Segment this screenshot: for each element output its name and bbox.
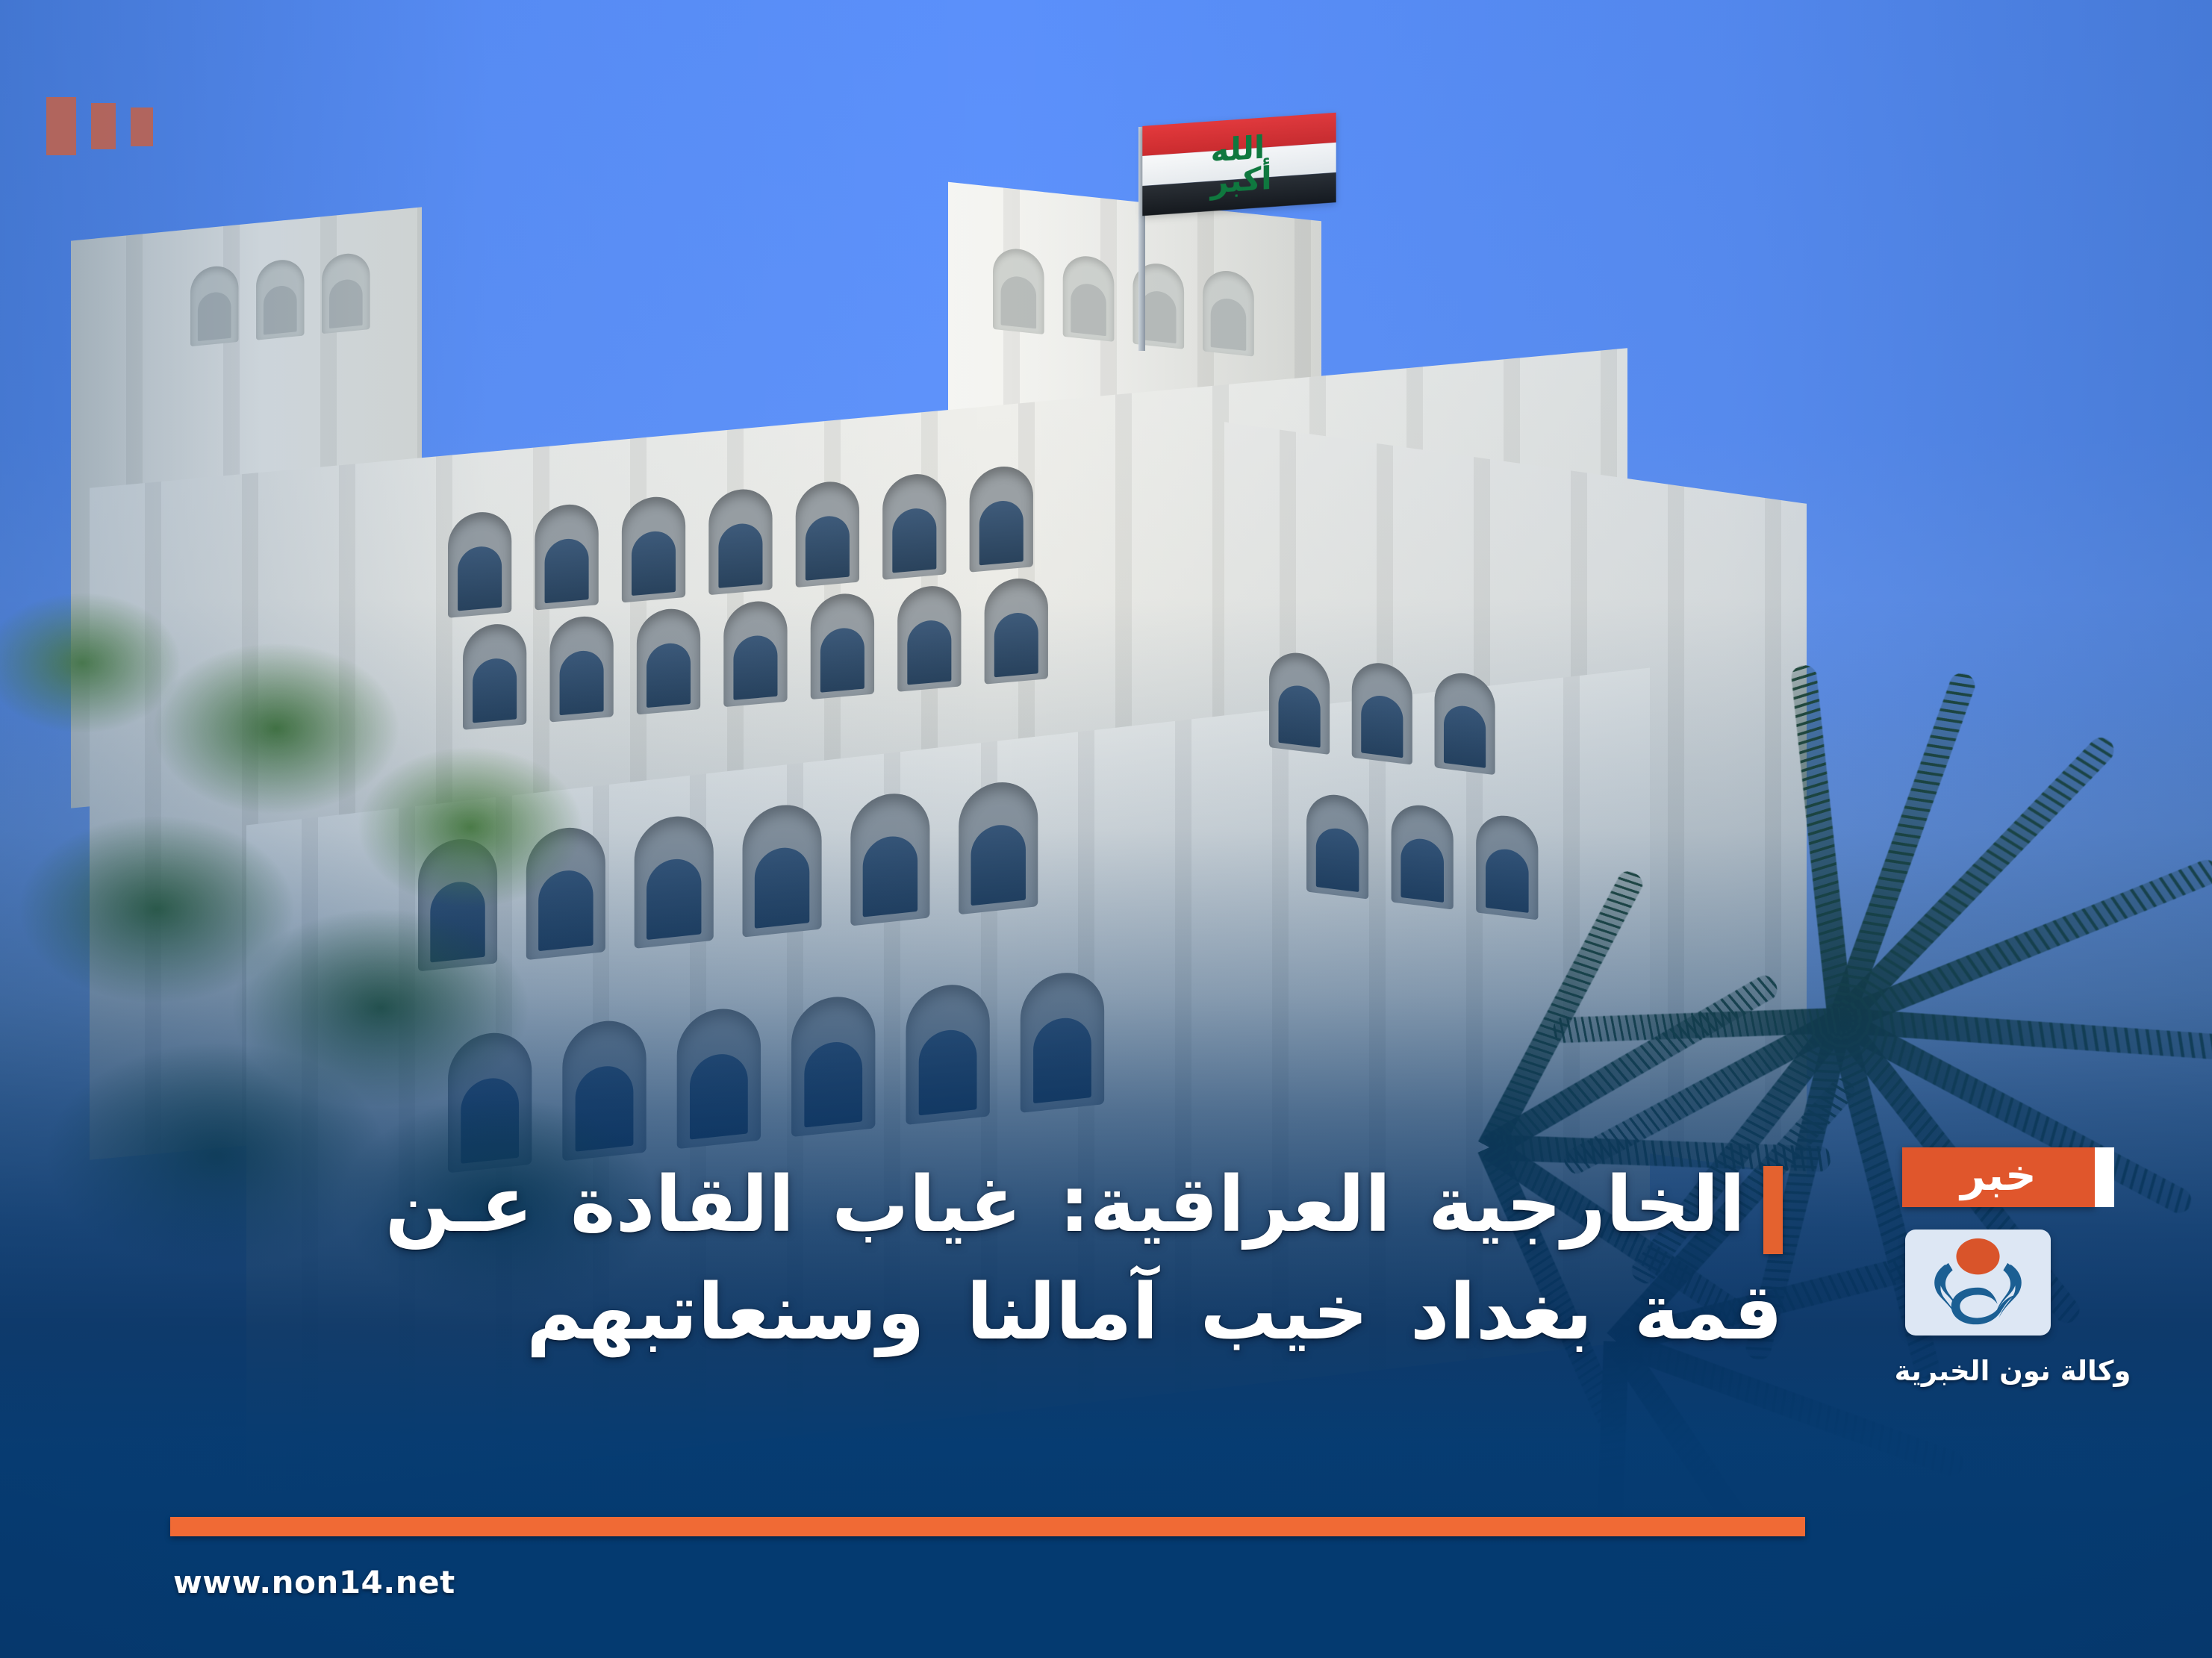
noon-agency-logo-icon[interactable]	[1905, 1230, 2051, 1336]
logo-block: خبر وكالة نون الخبرية	[1889, 1147, 2158, 1387]
headline-line-2: قمة بغداد خيب آمالنا وسنعاتبهم	[142, 1263, 1783, 1363]
headline-accent-bar-icon	[1763, 1166, 1783, 1254]
headline: الخارجية العراقية: غياب القادة عـن قمة ب…	[142, 1156, 1783, 1363]
background-photo: الله أكبر	[0, 0, 2212, 1658]
website-url[interactable]: www.non14.net	[173, 1564, 455, 1601]
vignette-overlay	[0, 0, 2212, 1658]
three-bars-watermark-icon	[46, 97, 153, 155]
news-badge: خبر	[1902, 1147, 2095, 1207]
news-card: الله أكبر	[0, 0, 2212, 1658]
headline-line-1: الخارجية العراقية: غياب القادة عـن	[142, 1156, 1745, 1256]
news-badge-label: خبر	[1960, 1153, 2037, 1197]
footer-divider	[170, 1517, 1805, 1536]
agency-name: وكالة نون الخبرية	[1878, 1355, 2147, 1387]
